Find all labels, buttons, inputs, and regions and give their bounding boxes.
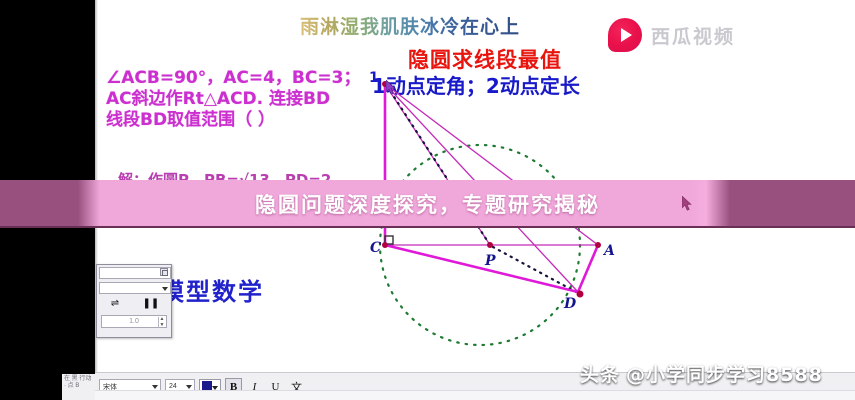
chevron-down-icon (212, 386, 218, 390)
screenshot-root: 雨淋湿我肌肤冰冷在心上 隐圆求线段最值 1动点定角；2动点定长 1 ∠ACB=9… (0, 0, 855, 400)
point-d (577, 291, 584, 298)
chevron-down-icon (152, 385, 158, 389)
reverse-button[interactable]: ⇌ (111, 299, 119, 309)
slide-header-title: 雨淋湿我肌肤冰冷在心上 (300, 12, 520, 39)
spinner-arrows-icon[interactable]: ▲ ▼ (158, 317, 165, 328)
label-c: C (370, 240, 381, 256)
pause-button[interactable]: ❚❚ (143, 299, 160, 309)
xigua-video-wordmark: 西瓜视频 (651, 22, 735, 49)
platform-name: 头条 (580, 360, 620, 387)
overlay-banner-underline (0, 226, 855, 228)
chevron-down-icon (162, 287, 168, 291)
label-a: A (602, 243, 615, 259)
dialog-button-row: ⇌ ❚❚ (99, 297, 171, 311)
status-hint: 在 黑 行动 · 点 B (62, 374, 95, 400)
board-footer-text: 模型数学 (160, 272, 264, 307)
point-c (382, 242, 388, 248)
mouse-cursor-icon (682, 196, 693, 212)
segment-c-d (385, 245, 578, 292)
label-d: D (563, 296, 577, 312)
mouse-cursor-icon-secondary (386, 80, 397, 96)
overlay-banner-text: 隐圆问题深度探究，专题研究揭秘 (0, 180, 855, 227)
dotted-p-d (493, 247, 576, 292)
speed-spinner[interactable]: 1.0 ▲ ▼ (101, 315, 167, 328)
xigua-video-logo: 西瓜视频 (608, 18, 735, 52)
label-p: P (484, 253, 496, 269)
play-triangle-icon (621, 28, 632, 42)
font-size-value: 24 (169, 383, 177, 390)
speed-value: 1.0 (129, 318, 139, 325)
point-p (487, 242, 493, 248)
chevron-down-icon (186, 385, 192, 389)
play-button-icon (608, 18, 642, 52)
dialog-minimize-icon[interactable] (160, 268, 168, 276)
status-bar (95, 390, 855, 400)
segment-d-a (578, 245, 598, 292)
channel-watermark: 头条 @小学同步学习8588 (580, 360, 823, 387)
dialog-object-select[interactable] (99, 282, 171, 294)
channel-handle: @小学同步学习8588 (626, 360, 823, 387)
spinner-down-icon[interactable]: ▼ (160, 323, 165, 328)
point-a (595, 242, 601, 248)
animation-dialog[interactable]: ⇌ ❚❚ 1.0 ▲ ▼ (96, 264, 172, 338)
